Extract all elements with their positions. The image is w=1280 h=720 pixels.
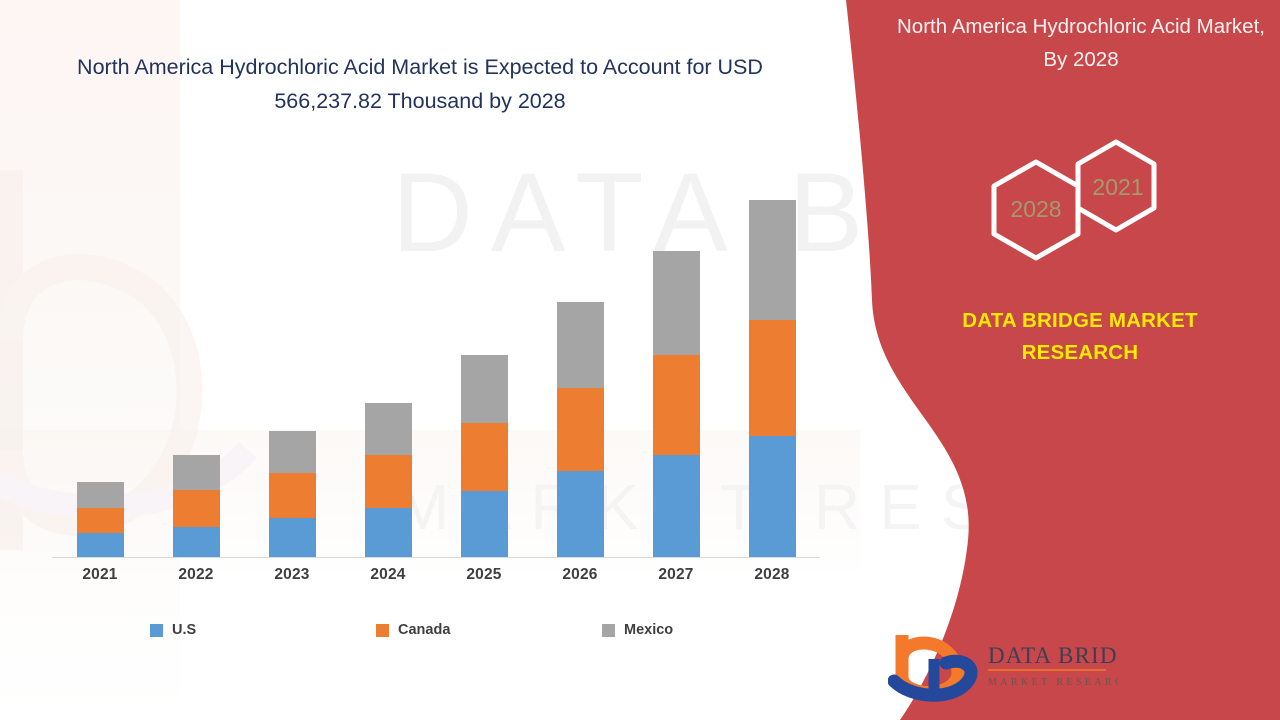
legend-swatch-icon: [376, 624, 389, 637]
bar-segment-us-2021[interactable]: [77, 533, 124, 557]
bar-slot-2027: [628, 140, 724, 557]
bar-segment-canada-2023[interactable]: [269, 473, 316, 518]
legend-label: Canada: [398, 622, 450, 638]
legend-label: Mexico: [624, 622, 673, 638]
x-tick-2027: 2027: [628, 566, 724, 600]
bar-segment-canada-2026[interactable]: [557, 388, 604, 471]
logo-text-sub: MARKET RESEARCH: [988, 677, 1118, 688]
bar-slot-2022: [148, 140, 244, 557]
bar-segment-canada-2021[interactable]: [77, 508, 124, 533]
bar-slot-2028: [724, 140, 820, 557]
brand-name-line2: RESEARCH: [890, 337, 1270, 369]
stacked-bar-2023[interactable]: [269, 431, 316, 557]
logo-text-main: DATA BRIDGE: [988, 643, 1118, 668]
stacked-bar-2021[interactable]: [77, 482, 124, 557]
bar-segment-mexico-2026[interactable]: [557, 302, 604, 388]
brand-name: DATA BRIDGE MARKET RESEARCH: [890, 305, 1270, 369]
x-tick-2024: 2024: [340, 566, 436, 600]
bar-group: [52, 140, 820, 557]
stacked-bar-2028[interactable]: [749, 200, 796, 557]
bar-segment-us-2028[interactable]: [749, 436, 796, 557]
stacked-bar-2025[interactable]: [461, 355, 508, 557]
brand-name-line1: DATA BRIDGE MARKET: [890, 305, 1270, 337]
bar-segment-canada-2025[interactable]: [461, 423, 508, 491]
bar-slot-2023: [244, 140, 340, 557]
hexagon-back-label: 2028: [1010, 196, 1061, 222]
bar-segment-mexico-2024[interactable]: [365, 403, 412, 455]
legend-swatch-icon: [602, 624, 615, 637]
chart-plot-area: [52, 140, 820, 558]
stacked-bar-2024[interactable]: [365, 403, 412, 557]
legend-item-us[interactable]: U.S: [150, 617, 376, 643]
panel-title: North America Hydrochloric Acid Market, …: [890, 10, 1272, 76]
x-tick-2022: 2022: [148, 566, 244, 600]
panel-content: North America Hydrochloric Acid Market, …: [880, 0, 1280, 720]
bar-segment-mexico-2023[interactable]: [269, 431, 316, 473]
bar-slot-2021: [52, 140, 148, 557]
legend-swatch-icon: [150, 624, 163, 637]
hexagon-pair-icon: 2028 2021: [988, 138, 1188, 268]
legend-label: U.S: [172, 622, 196, 638]
x-tick-2021: 2021: [52, 566, 148, 600]
data-bridge-logo: DATA BRIDGE MARKET RESEARCH: [888, 625, 1118, 705]
x-tick-2023: 2023: [244, 566, 340, 600]
x-axis-labels: 20212022202320242025202620272028: [52, 566, 820, 600]
x-tick-2028: 2028: [724, 566, 820, 600]
stacked-bar-2027[interactable]: [653, 251, 700, 557]
bar-segment-canada-2027[interactable]: [653, 355, 700, 455]
bar-segment-mexico-2025[interactable]: [461, 355, 508, 423]
bar-segment-mexico-2021[interactable]: [77, 482, 124, 508]
bar-segment-us-2023[interactable]: [269, 518, 316, 557]
stacked-bar-2026[interactable]: [557, 302, 604, 557]
bar-segment-mexico-2022[interactable]: [173, 455, 220, 490]
bar-segment-mexico-2028[interactable]: [749, 200, 796, 320]
bar-segment-us-2024[interactable]: [365, 508, 412, 557]
bar-segment-canada-2022[interactable]: [173, 490, 220, 527]
bar-segment-us-2022[interactable]: [173, 527, 220, 557]
infographic-canvas: DATA BRIDGE MARKET RESEARCH North Americ…: [0, 0, 1280, 720]
bar-segment-canada-2024[interactable]: [365, 455, 412, 508]
hexagon-front-label: 2021: [1092, 174, 1143, 200]
bar-slot-2026: [532, 140, 628, 557]
x-tick-2025: 2025: [436, 566, 532, 600]
bar-segment-us-2027[interactable]: [653, 455, 700, 557]
bar-segment-mexico-2027[interactable]: [653, 251, 700, 355]
bar-segment-canada-2028[interactable]: [749, 320, 796, 436]
legend-item-mexico[interactable]: Mexico: [602, 617, 828, 643]
bar-slot-2024: [340, 140, 436, 557]
x-axis-line: [52, 557, 820, 558]
legend-item-canada[interactable]: Canada: [376, 617, 602, 643]
bar-segment-us-2026[interactable]: [557, 471, 604, 557]
bar-slot-2025: [436, 140, 532, 557]
chart-title: North America Hydrochloric Acid Market i…: [60, 50, 780, 118]
x-tick-2026: 2026: [532, 566, 628, 600]
bar-segment-us-2025[interactable]: [461, 491, 508, 557]
stacked-bar-2022[interactable]: [173, 455, 220, 557]
chart-legend: U.SCanadaMexico: [150, 617, 750, 643]
